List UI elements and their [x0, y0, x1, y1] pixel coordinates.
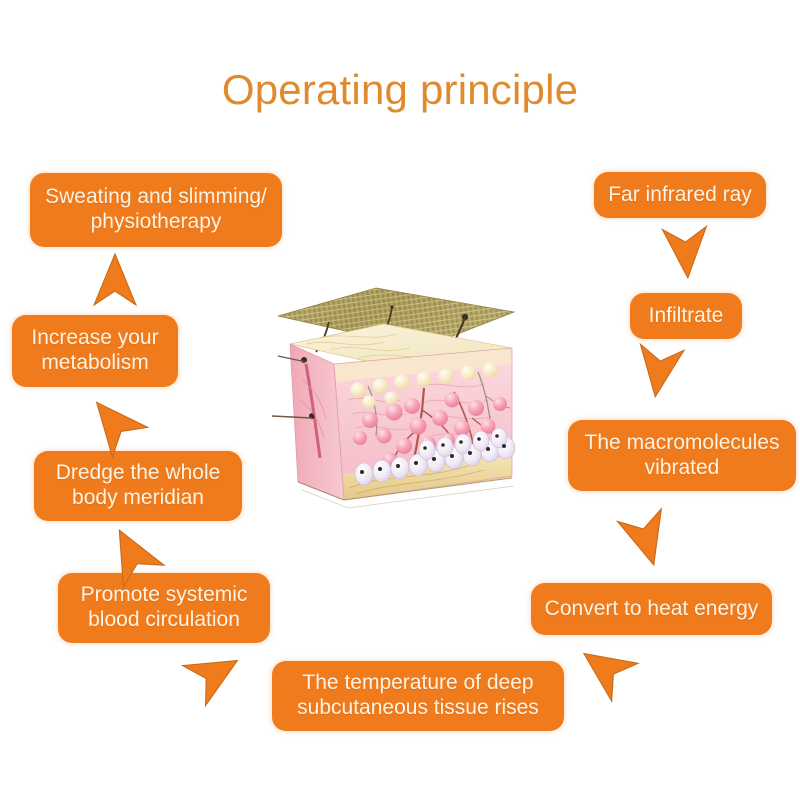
flow-box-increase-your-metabolism[interactable]: Increase your metabolism	[12, 315, 178, 387]
flow-box-label: Dredge the whole body meridian	[44, 461, 232, 511]
flow-box-label: The temperature of deep subcutaneous tis…	[282, 671, 554, 721]
skin-cross-section-illustration	[272, 268, 520, 520]
flow-box-label: Infiltrate	[640, 304, 732, 329]
flow-box-the-macromolecules-vibrated[interactable]: The macromolecules vibrated	[568, 420, 796, 491]
flow-box-label: The macromolecules vibrated	[578, 431, 786, 481]
arrow-up-icon-metabolism-to-sweating	[90, 251, 140, 307]
flow-box-label: Convert to heat energy	[541, 597, 762, 622]
flow-box-label: Sweating and slimming/ physiotherapy	[40, 185, 272, 235]
flow-box-temperature-of-deep-subcutaneous-tissue-rises[interactable]: The temperature of deep subcutaneous tis…	[272, 661, 564, 731]
arrow-down-icon-macromolecules-to-convert	[613, 502, 680, 574]
flow-box-far-infrared-ray[interactable]: Far infrared ray	[594, 172, 766, 218]
flow-box-promote-systemic-blood-circulation[interactable]: Promote systemic blood circulation	[58, 573, 270, 643]
flow-box-label: Far infrared ray	[604, 183, 756, 208]
flow-box-dredge-the-whole-body-meridian[interactable]: Dredge the whole body meridian	[34, 451, 242, 521]
flow-box-infiltrate[interactable]: Infiltrate	[630, 293, 742, 339]
arrow-down-icon-far-infrared-to-infiltrate	[659, 220, 713, 281]
flow-box-label: Promote systemic blood circulation	[68, 583, 260, 633]
flow-box-convert-to-heat-energy[interactable]: Convert to heat energy	[531, 583, 772, 635]
arrow-down-icon-infiltrate-to-macromolecules	[630, 338, 688, 402]
diagram-canvas: Operating principle Sweating and slimmin…	[0, 0, 800, 800]
skin-left-face	[272, 344, 344, 500]
arrow-up-left-icon-temperature-to-promote	[176, 637, 252, 711]
page-title: Operating principle	[0, 66, 800, 114]
arrow-down-left-icon-convert-to-temperature	[567, 631, 644, 707]
flow-box-label: Increase your metabolism	[22, 326, 168, 376]
flow-box-sweating-and-slimming[interactable]: Sweating and slimming/ physiotherapy	[30, 173, 282, 247]
